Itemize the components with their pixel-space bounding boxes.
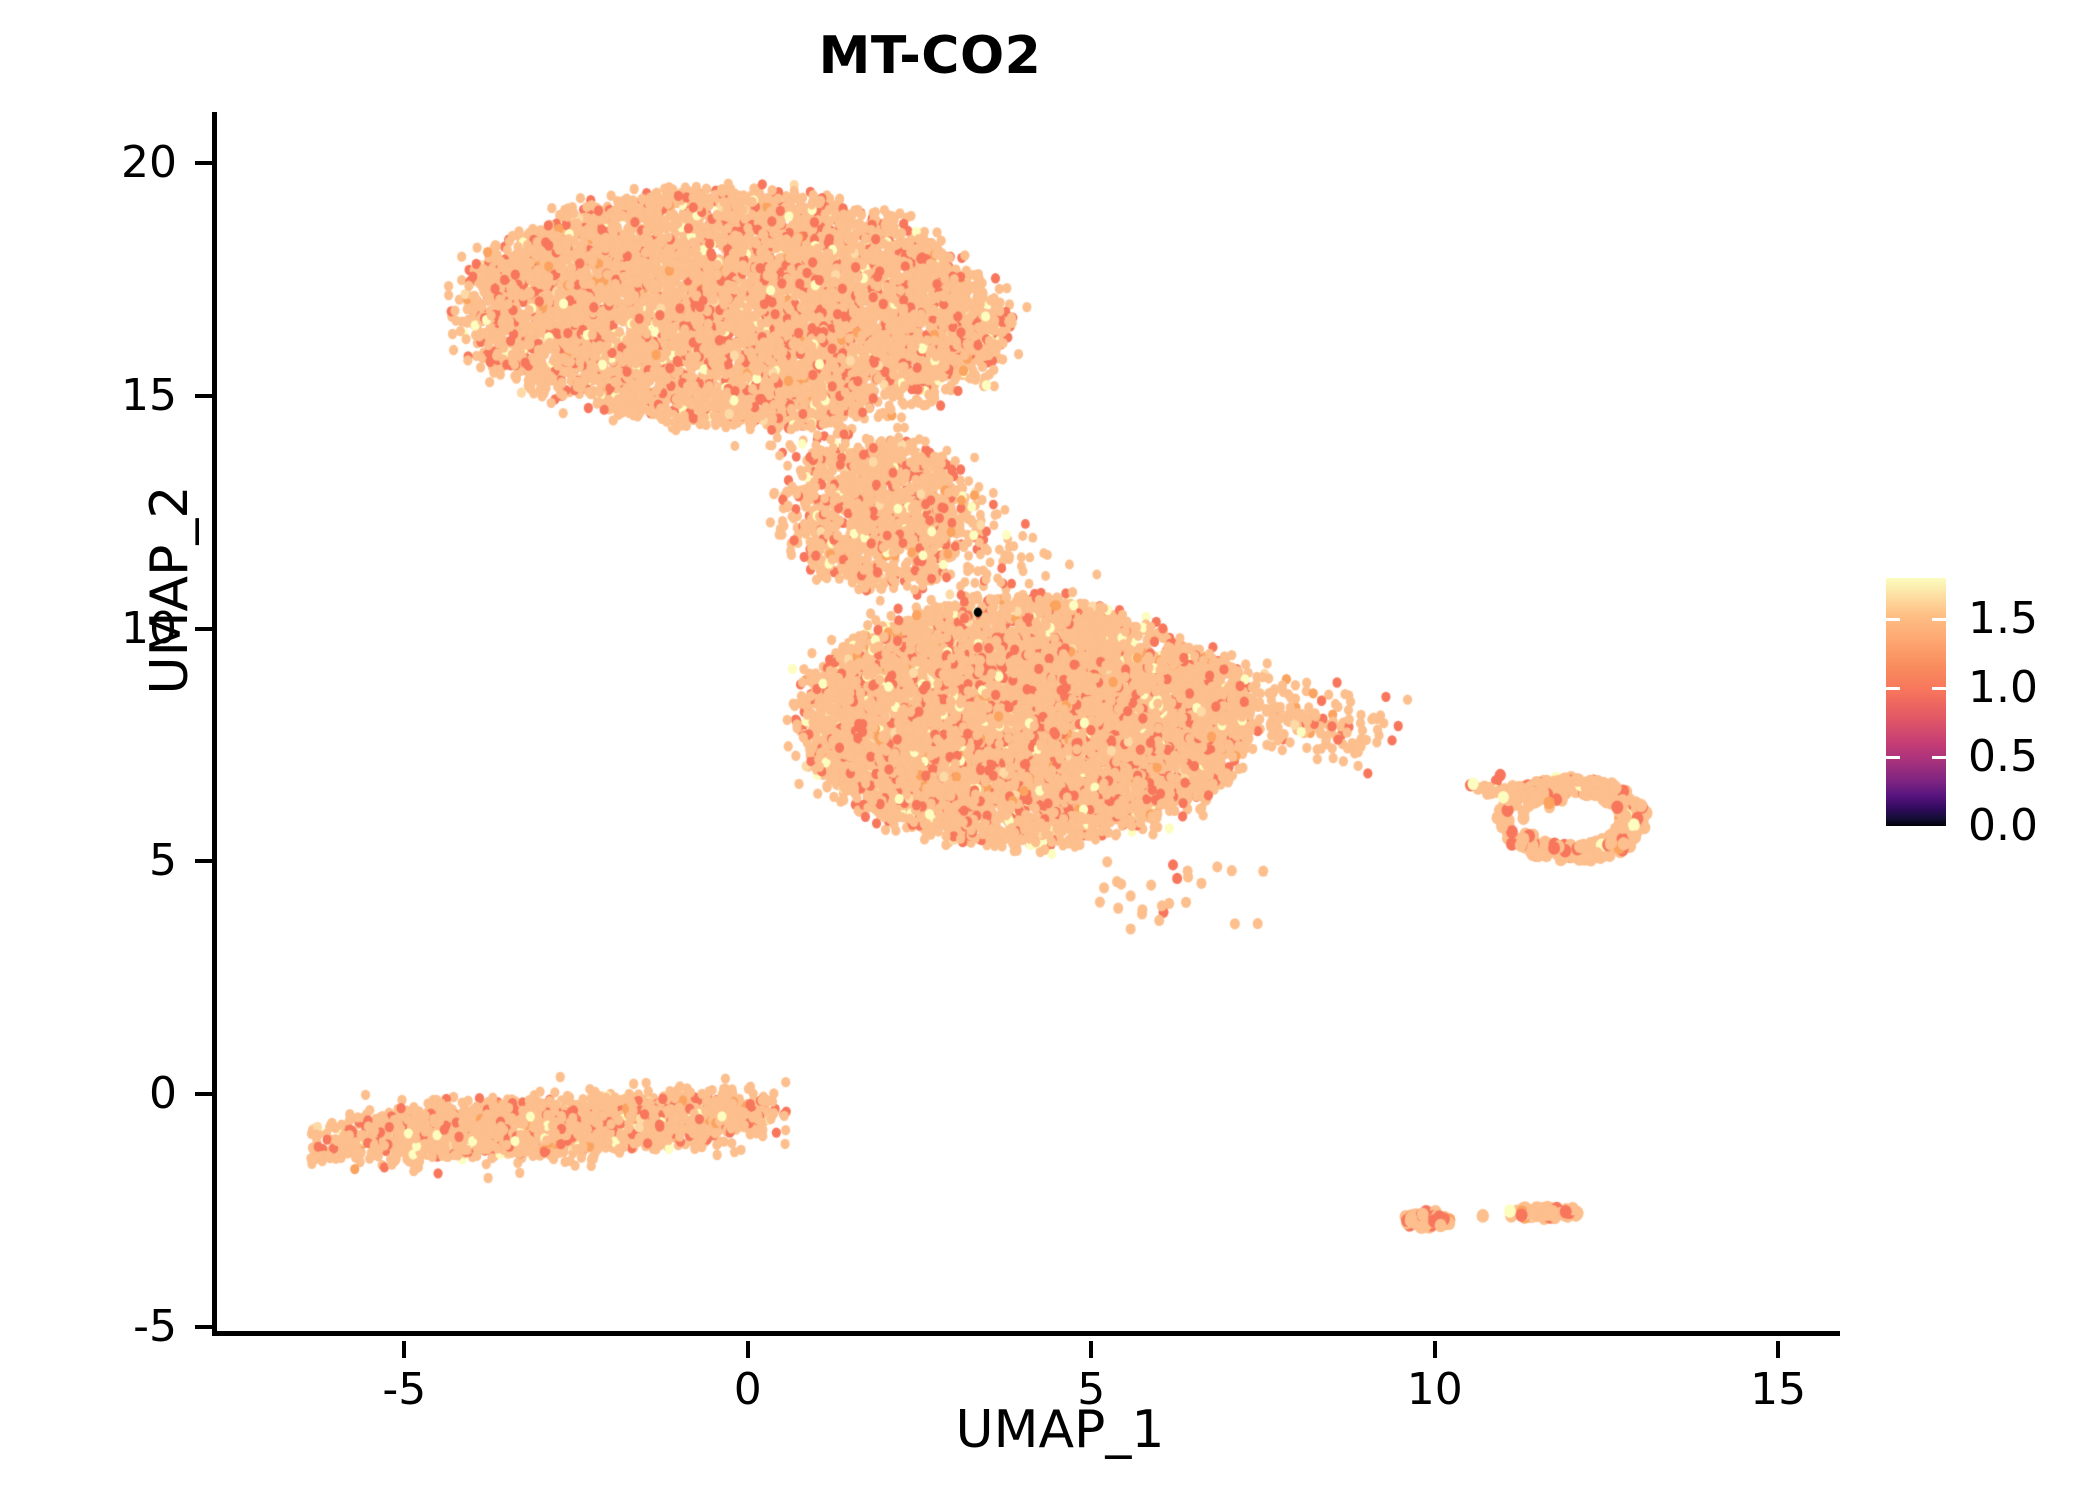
colorbar-tick bbox=[1932, 618, 1946, 621]
x-axis-tick bbox=[1776, 1341, 1780, 1358]
y-axis-tick-label: 10 bbox=[27, 607, 177, 651]
x-axis-tick bbox=[746, 1341, 750, 1358]
y-axis-tick-label: 5 bbox=[27, 839, 177, 883]
x-axis-tick bbox=[1089, 1341, 1093, 1358]
colorbar-tick bbox=[1932, 756, 1946, 759]
y-axis-tick-label: 0 bbox=[27, 1072, 177, 1116]
colorbar-gradient bbox=[1886, 578, 1946, 826]
colorbar-tick-label: 0.5 bbox=[1968, 735, 2038, 779]
x-axis-tick-label: 15 bbox=[1688, 1368, 1868, 1412]
chart-title: MT-CO2 bbox=[0, 26, 1860, 86]
y-axis-tick-label: -5 bbox=[27, 1305, 177, 1349]
colorbar-tick-label: 0.0 bbox=[1968, 804, 2038, 848]
colorbar-tick bbox=[1932, 687, 1946, 690]
y-axis-tick bbox=[195, 627, 212, 631]
y-axis-tick bbox=[195, 161, 212, 165]
colorbar-tick-label: 1.5 bbox=[1968, 597, 2038, 641]
x-axis-tick-label: 5 bbox=[1001, 1368, 1181, 1412]
colorbar-tick bbox=[1886, 687, 1900, 690]
y-axis-tick-label: 20 bbox=[27, 141, 177, 185]
colorbar-tick bbox=[1886, 618, 1900, 621]
y-axis-tick-label: 15 bbox=[27, 374, 177, 418]
x-axis-tick bbox=[402, 1341, 406, 1358]
y-axis-tick bbox=[195, 1092, 212, 1096]
y-axis-tick bbox=[195, 859, 212, 863]
x-axis-tick-label: -5 bbox=[314, 1368, 494, 1412]
colorbar-tick-label: 1.0 bbox=[1968, 666, 2038, 710]
x-axis-tick-label: 0 bbox=[658, 1368, 838, 1412]
y-axis-tick bbox=[195, 394, 212, 398]
scatter-plot-area bbox=[212, 112, 1840, 1336]
y-axis-label: UMAP_2 bbox=[140, 360, 200, 820]
y-axis-tick bbox=[195, 1325, 212, 1329]
x-axis-tick-label: 10 bbox=[1345, 1368, 1525, 1412]
colorbar-legend: 1.51.00.50.0 bbox=[1886, 578, 2086, 838]
colorbar-tick bbox=[1886, 756, 1900, 759]
x-axis-tick bbox=[1433, 1341, 1437, 1358]
